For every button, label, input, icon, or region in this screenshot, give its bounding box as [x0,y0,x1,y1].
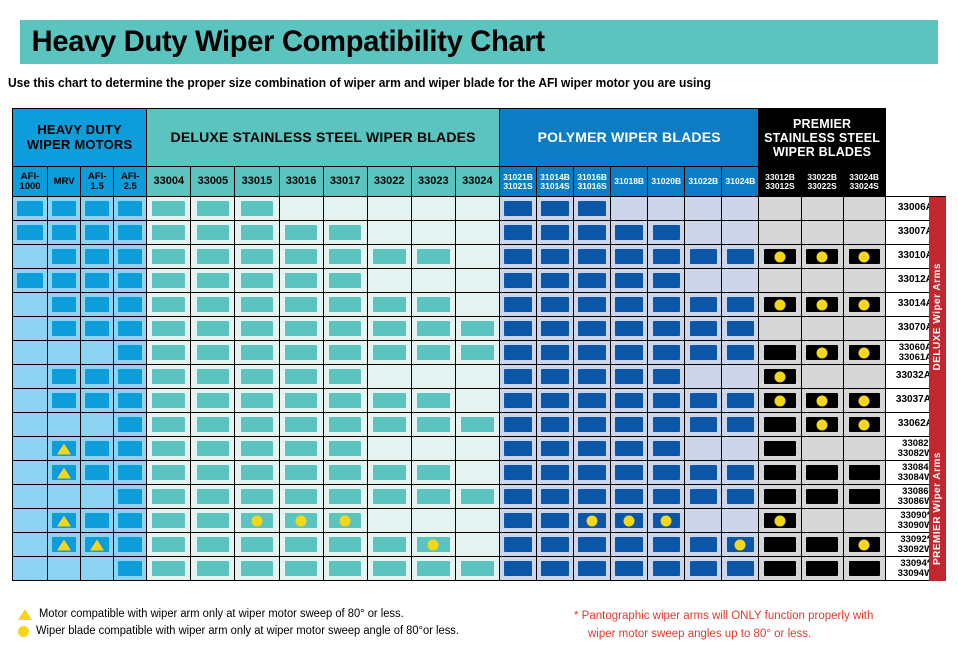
cell-r6-c5 [191,341,235,365]
cell-r15-c17 [685,557,722,581]
cell-r9-c13 [537,413,574,437]
cell-r3-c7 [279,269,323,293]
compat-chip [85,273,109,288]
compat-chip [653,369,680,384]
dot-icon [859,299,870,310]
cell-r0-c17 [685,197,722,221]
compat-chip [690,345,717,360]
dot-icon [428,539,439,550]
cell-r15-c6 [235,557,279,581]
cell-r2-c3 [114,245,147,269]
cell-r13-c12 [499,509,536,533]
cell-r9-c12 [499,413,536,437]
table-row: 33037A* [13,389,946,413]
cell-r7-c10 [411,365,455,389]
cell-r5-c19 [759,317,801,341]
compat-chip [329,225,362,240]
cell-r5-c7 [279,317,323,341]
cell-r11-c12 [499,461,536,485]
cell-r14-c8 [323,533,367,557]
table-body: 33006A33007A33010A33012A33014A33070A3306… [13,197,946,581]
cell-r9-c20 [801,413,843,437]
cell-r11-c20 [801,461,843,485]
compat-chip [197,369,230,384]
compat-chip [541,249,568,264]
compat-chip [806,561,837,576]
sub-header-row: AFI-1000MRVAFI-1.5AFI-2.5330043300533015… [13,167,946,197]
cell-r15-c11 [455,557,499,581]
cell-r3-c14 [574,269,611,293]
cell-r6-c16 [648,341,685,365]
compat-chip [197,393,230,408]
cell-r6-c4 [147,341,191,365]
cell-r11-c9 [367,461,411,485]
table-row: 33014A [13,293,946,317]
col-header-deluxe-6: 33023 [411,167,455,197]
compat-chip [152,201,185,216]
compat-chip [373,417,406,432]
cell-r7-c4 [147,365,191,389]
triangle-icon [18,609,32,620]
compat-chip [152,441,185,456]
col-header-polymer-2: 31016B31016S [574,167,611,197]
cell-r3-c10 [411,269,455,293]
compat-chip [17,273,43,288]
compat-chip [727,321,754,336]
compat-chip [727,393,754,408]
triangle-icon [57,515,71,526]
cell-r4-c10 [411,293,455,317]
compat-chip [541,465,568,480]
cell-r12-c12 [499,485,536,509]
compat-chip [118,417,142,432]
cell-r1-c2 [81,221,114,245]
compat-chip [197,321,230,336]
cell-r2-c12 [499,245,536,269]
cell-r5-c6 [235,317,279,341]
cell-r10-c3 [114,437,147,461]
cell-r8-c6 [235,389,279,413]
cell-r5-c12 [499,317,536,341]
compat-chip [417,393,450,408]
cell-r14-c4 [147,533,191,557]
compat-chip [504,561,531,576]
cell-r10-c20 [801,437,843,461]
cell-r7-c12 [499,365,536,389]
compat-chip [541,561,568,576]
compat-chip [504,225,531,240]
group-header-premier: PREMIERSTAINLESS STEELWIPER BLADES [759,109,885,167]
compat-chip [541,393,568,408]
compat-chip [653,465,680,480]
cell-r14-c9 [367,533,411,557]
col-header-motor-0: AFI-1000 [13,167,48,197]
cell-r0-c4 [147,197,191,221]
cell-r2-c0 [13,245,48,269]
cell-r2-c15 [611,245,648,269]
compat-chip [615,297,642,312]
cell-r12-c5 [191,485,235,509]
compat-chip [578,201,605,216]
compat-chip [653,297,680,312]
cell-r0-c13 [537,197,574,221]
compat-chip [118,321,142,336]
cell-r10-c13 [537,437,574,461]
compat-chip [152,369,185,384]
cell-r7-c0 [13,365,48,389]
compat-chip [727,345,754,360]
compat-chip [578,249,605,264]
spine-premier-wiper-arms: PREMIER Wiper Arms [929,437,946,581]
cell-r10-c11 [455,437,499,461]
compat-chip [461,561,494,576]
compat-chip [417,465,450,480]
cell-r15-c10 [411,557,455,581]
compat-chip [578,537,605,552]
cell-r10-c17 [685,437,722,461]
compat-chip [241,273,274,288]
cell-r9-c14 [574,413,611,437]
compat-chip [152,537,185,552]
compat-chip [285,249,318,264]
cell-r14-c5 [191,533,235,557]
cell-r15-c19 [759,557,801,581]
dot-icon [735,539,746,550]
spine-deluxe-wiper-arms: DELUXE Wiper Arms [929,197,946,437]
compat-chip [541,201,568,216]
compat-chip [85,441,109,456]
cell-r1-c0 [13,221,48,245]
table-row: 33060A33061A [13,341,946,365]
compat-chip [504,321,531,336]
compat-chip [285,417,318,432]
cell-r5-c15 [611,317,648,341]
cell-r6-c21 [843,341,885,365]
cell-r5-c17 [685,317,722,341]
compat-chip [329,273,362,288]
compat-chip [197,489,230,504]
cell-r11-c5 [191,461,235,485]
compat-chip [690,537,717,552]
cell-r11-c4 [147,461,191,485]
cell-r0-c0 [13,197,48,221]
compat-chip [690,297,717,312]
dot-icon [817,299,828,310]
compat-chip [241,297,274,312]
cell-r11-c7 [279,461,323,485]
cell-r10-c19 [759,437,801,461]
cell-r13-c16 [648,509,685,533]
col-header-motor-3: AFI-2.5 [114,167,147,197]
cell-r12-c20 [801,485,843,509]
cell-r7-c16 [648,365,685,389]
compat-chip [52,225,76,240]
cell-r7-c3 [114,365,147,389]
title-banner: Heavy Duty Wiper Compatibility Chart [20,20,938,64]
table-head: HEAVY DUTYWIPER MOTORS DELUXE STAINLESS … [13,109,946,197]
cell-r15-c16 [648,557,685,581]
cell-r6-c17 [685,341,722,365]
cell-r5-c9 [367,317,411,341]
cell-r13-c13 [537,509,574,533]
spine-deluxe-label: DELUXE Wiper Arms [932,263,943,371]
compat-chip [417,561,450,576]
compat-chip [197,513,230,528]
compat-chip [241,393,274,408]
compat-chip [329,489,362,504]
cell-r11-c3 [114,461,147,485]
dot-icon [296,515,307,526]
compat-chip [17,201,43,216]
dot-icon [775,299,786,310]
cell-r5-c16 [648,317,685,341]
compat-chip [578,297,605,312]
compat-chip [285,225,318,240]
compat-chip [653,561,680,576]
cell-r2-c20 [801,245,843,269]
group-header-polymer: POLYMER WIPER BLADES [499,109,759,167]
compat-chip [373,561,406,576]
cell-r13-c7 [279,509,323,533]
cell-r14-c7 [279,533,323,557]
cell-r2-c2 [81,245,114,269]
cell-r15-c21 [843,557,885,581]
compat-chip [85,369,109,384]
compat-chip [197,201,230,216]
cell-r3-c1 [48,269,81,293]
cell-r13-c15 [611,509,648,533]
compat-chip [329,297,362,312]
compat-chip [329,561,362,576]
compat-chip [373,393,406,408]
compat-chip [690,393,717,408]
col-header-polymer-1: 31014B31014S [537,167,574,197]
compat-chip [285,441,318,456]
compat-chip [504,201,531,216]
compat-chip [541,489,568,504]
cell-r8-c9 [367,389,411,413]
compat-chip [504,441,531,456]
cell-r6-c13 [537,341,574,365]
cell-r12-c3 [114,485,147,509]
cell-r2-c10 [411,245,455,269]
compat-chip [615,393,642,408]
compat-chip [118,441,142,456]
cell-r6-c20 [801,341,843,365]
compatibility-chart-page: Heavy Duty Wiper Compatibility Chart Use… [0,0,958,660]
compat-chip [653,273,680,288]
compat-chip [285,321,318,336]
compat-chip [118,393,142,408]
compat-chip [241,561,274,576]
compat-chip [615,489,642,504]
cell-r13-c21 [843,509,885,533]
cell-r15-c4 [147,557,191,581]
cell-r8-c4 [147,389,191,413]
cell-r3-c2 [81,269,114,293]
cell-r12-c15 [611,485,648,509]
compat-chip [504,249,531,264]
cell-r1-c13 [537,221,574,245]
compat-chip [197,417,230,432]
compat-chip [52,393,76,408]
compat-chip [329,321,362,336]
cell-r5-c2 [81,317,114,341]
compat-chip [578,465,605,480]
cell-r5-c21 [843,317,885,341]
compat-chip [653,321,680,336]
compat-chip [541,417,568,432]
compat-chip [578,369,605,384]
cell-r12-c8 [323,485,367,509]
cell-r10-c21 [843,437,885,461]
cell-r3-c15 [611,269,648,293]
compat-chip [241,345,274,360]
cell-r1-c14 [574,221,611,245]
table-row: 33032A* [13,365,946,389]
cell-r9-c17 [685,413,722,437]
cell-r8-c15 [611,389,648,413]
cell-r7-c1 [48,365,81,389]
cell-r6-c6 [235,341,279,365]
compat-chip [52,321,76,336]
cell-r13-c14 [574,509,611,533]
cell-r11-c19 [759,461,801,485]
compat-chip [197,273,230,288]
cell-r12-c10 [411,485,455,509]
cell-r9-c9 [367,413,411,437]
compat-chip [152,249,185,264]
cell-r13-c10 [411,509,455,533]
compat-chip [504,513,531,528]
compat-chip [241,441,274,456]
table-row: 3308633086W [13,485,946,509]
table-row: 33062A [13,413,946,437]
compat-chip [118,561,142,576]
compat-chip [615,321,642,336]
compat-chip [85,297,109,312]
compat-chip [849,465,880,480]
compat-chip [764,441,795,456]
legend-triangle-text: Motor compatible with wiper arm only at … [39,608,404,620]
cell-r15-c14 [574,557,611,581]
cell-r1-c17 [685,221,722,245]
cell-r14-c20 [801,533,843,557]
compat-chip [373,465,406,480]
cell-r7-c19 [759,365,801,389]
compat-chip [152,393,185,408]
compat-chip [615,345,642,360]
asterisk-note-line1: * Pantographic wiper arms will ONLY func… [574,610,873,622]
cell-r15-c15 [611,557,648,581]
compat-chip [52,201,76,216]
compat-chip [118,345,142,360]
cell-r13-c19 [759,509,801,533]
cell-r8-c21 [843,389,885,413]
cell-r8-c0 [13,389,48,413]
cell-r3-c13 [537,269,574,293]
cell-r14-c21 [843,533,885,557]
compat-chip [653,417,680,432]
table-row: 33012A [13,269,946,293]
table-row: 33070A [13,317,946,341]
compat-chip [241,417,274,432]
compat-chip [17,225,43,240]
col-header-motor-1: MRV [48,167,81,197]
compat-chip [85,321,109,336]
dot-icon [624,515,635,526]
compat-chip [615,225,642,240]
cell-r1-c16 [648,221,685,245]
compat-chip [197,441,230,456]
dot-icon [587,515,598,526]
table-row: 33094*33094W [13,557,946,581]
cell-r5-c4 [147,317,191,341]
compat-chip [690,321,717,336]
cell-r9-c15 [611,413,648,437]
compat-chip [118,249,142,264]
compat-chip [152,513,185,528]
compat-chip [727,561,754,576]
cell-r2-c18 [722,245,759,269]
chart-table-wrap: HEAVY DUTYWIPER MOTORS DELUXE STAINLESS … [12,108,946,581]
compat-chip [241,489,274,504]
cell-r5-c3 [114,317,147,341]
cell-r14-c6 [235,533,279,557]
compat-chip [417,321,450,336]
table-row: 33006A [13,197,946,221]
cell-r11-c1 [48,461,81,485]
cell-r1-c18 [722,221,759,245]
cell-r2-c17 [685,245,722,269]
legend-dot-text: Wiper blade compatible with wiper arm on… [36,625,459,637]
compat-chip [118,273,142,288]
cell-r14-c16 [648,533,685,557]
table-row: 33092*33092W [13,533,946,557]
cell-r11-c21 [843,461,885,485]
group-header-motors: HEAVY DUTYWIPER MOTORS [13,109,147,167]
cell-r12-c6 [235,485,279,509]
compat-chip [197,537,230,552]
compat-chip [541,321,568,336]
cell-r1-c7 [279,221,323,245]
cell-r5-c8 [323,317,367,341]
table-row: 33090*33090W [13,509,946,533]
cell-r9-c1 [48,413,81,437]
compat-chip [764,465,795,480]
cell-r15-c2 [81,557,114,581]
compat-chip [329,393,362,408]
compat-chip [417,249,450,264]
compat-chip [241,249,274,264]
cell-r10-c8 [323,437,367,461]
cell-r7-c15 [611,365,648,389]
compat-chip [285,297,318,312]
cell-r7-c14 [574,365,611,389]
compat-chip [118,513,142,528]
compat-chip [52,249,76,264]
cell-r0-c16 [648,197,685,221]
cell-r1-c4 [147,221,191,245]
cell-r5-c18 [722,317,759,341]
compat-chip [373,297,406,312]
cell-r7-c2 [81,365,114,389]
cell-r10-c9 [367,437,411,461]
cell-r10-c14 [574,437,611,461]
compat-chip [849,561,880,576]
cell-r12-c0 [13,485,48,509]
compat-chip [329,417,362,432]
